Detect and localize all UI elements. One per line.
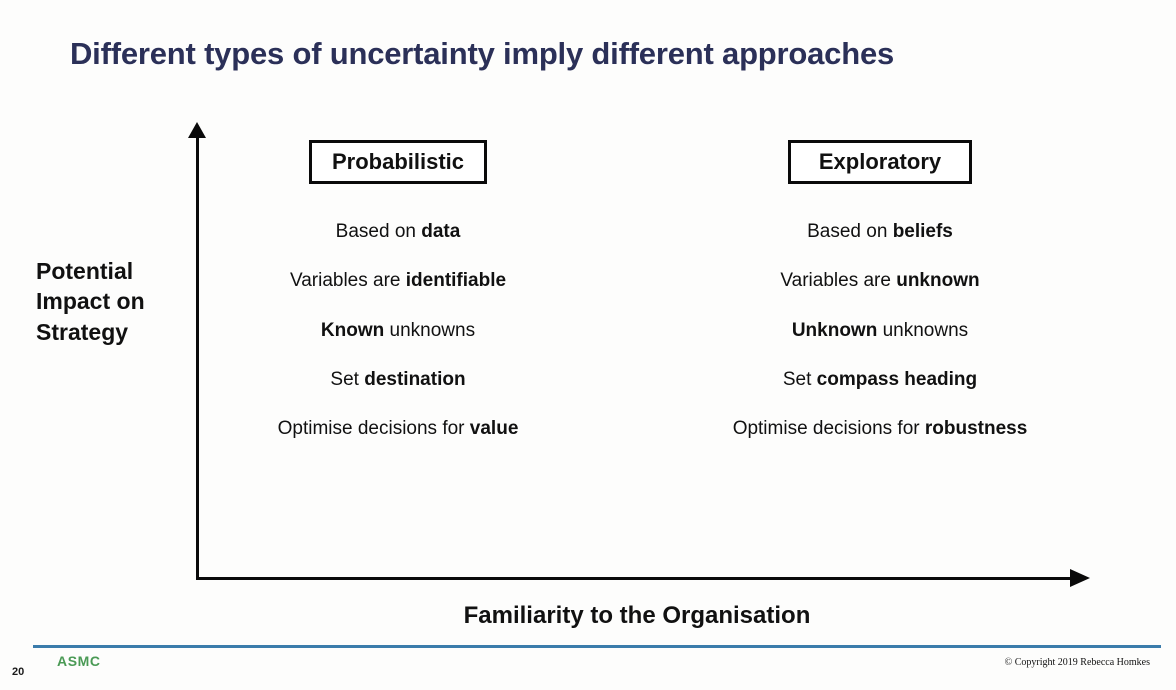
column-item-emphasis: Known: [321, 320, 384, 341]
column-item-emphasis: value: [470, 418, 519, 439]
column-item-emphasis: destination: [364, 369, 465, 390]
x-axis-line: [196, 577, 1078, 580]
y-axis-line: [196, 132, 199, 580]
column-item: Set compass heading: [700, 368, 1060, 392]
column-item: Based on beliefs: [700, 220, 1060, 244]
x-axis-arrow-icon: [1070, 569, 1090, 587]
column-item: Based on data: [218, 220, 578, 244]
asmc-logo: ASMC: [57, 653, 101, 669]
column-item: Set destination: [218, 368, 578, 392]
slide-canvas: Different types of uncertainty imply dif…: [0, 0, 1176, 690]
copyright-notice: © Copyright 2019 Rebecca Homkes: [1005, 657, 1150, 668]
column-item: Unknown unknowns: [700, 319, 1060, 343]
page-number: 20: [12, 666, 24, 678]
column-item-emphasis: unknown: [896, 270, 979, 291]
column-item-emphasis: compass heading: [817, 369, 978, 390]
column-probabilistic: Probabilistic Based on dataVariables are…: [218, 140, 578, 442]
column-header-probabilistic: Probabilistic: [309, 140, 487, 184]
column-item-emphasis: robustness: [925, 418, 1027, 439]
x-axis-label: Familiarity to the Organisation: [196, 602, 1078, 630]
footer-divider: [33, 645, 1161, 648]
column-item: Known unknowns: [218, 319, 578, 343]
column-item-emphasis: data: [421, 221, 460, 242]
column-exploratory: Exploratory Based on beliefsVariables ar…: [700, 140, 1060, 442]
page-title: Different types of uncertainty imply dif…: [70, 36, 1110, 72]
y-axis-arrow-icon: [188, 122, 206, 138]
column-item: Variables are unknown: [700, 269, 1060, 293]
column-item: Optimise decisions for robustness: [700, 417, 1060, 441]
column-item: Optimise decisions for value: [218, 417, 578, 441]
column-items-probabilistic: Based on dataVariables are identifiableK…: [218, 220, 578, 442]
column-item-emphasis: Unknown: [792, 320, 878, 341]
y-axis-label: Potential Impact on Strategy: [36, 256, 188, 347]
column-item-emphasis: identifiable: [406, 270, 506, 291]
column-item-emphasis: beliefs: [893, 221, 953, 242]
column-header-exploratory: Exploratory: [788, 140, 972, 184]
column-item: Variables are identifiable: [218, 269, 578, 293]
column-items-exploratory: Based on beliefsVariables are unknownUnk…: [700, 220, 1060, 442]
